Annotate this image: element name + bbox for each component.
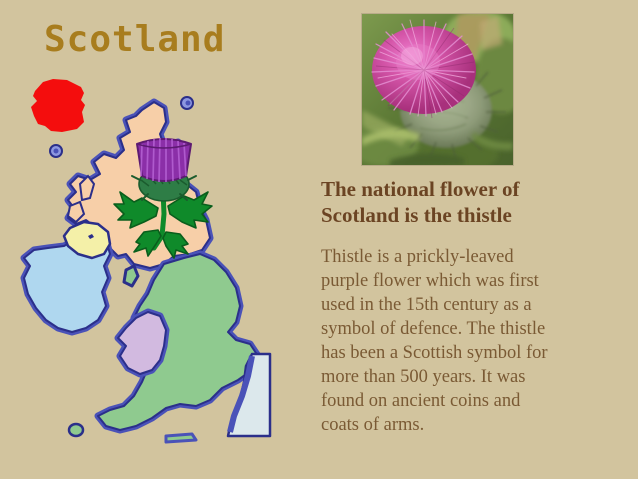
- flower-text-column: The national flower of Scotland is the t…: [321, 176, 621, 437]
- thistle-photo-image: [362, 14, 513, 165]
- thistle-clipart: [108, 132, 220, 260]
- flower-heading: The national flower of Scotland is the t…: [321, 176, 621, 229]
- map-region-wales[interactable]: [118, 312, 166, 374]
- thistle-leaf-right-icon: [163, 192, 212, 258]
- flower-body-text: Thistle is a prickly-leaved purple flowe…: [321, 229, 621, 437]
- thistle-leaf-left-icon: [114, 192, 161, 256]
- slide-canvas: Scotland: [0, 0, 638, 479]
- map-region-isle-of-man: [124, 266, 138, 286]
- thistle-flower-icon: [137, 138, 191, 182]
- thistle-photograph: [361, 13, 514, 166]
- page-title: Scotland: [44, 22, 225, 58]
